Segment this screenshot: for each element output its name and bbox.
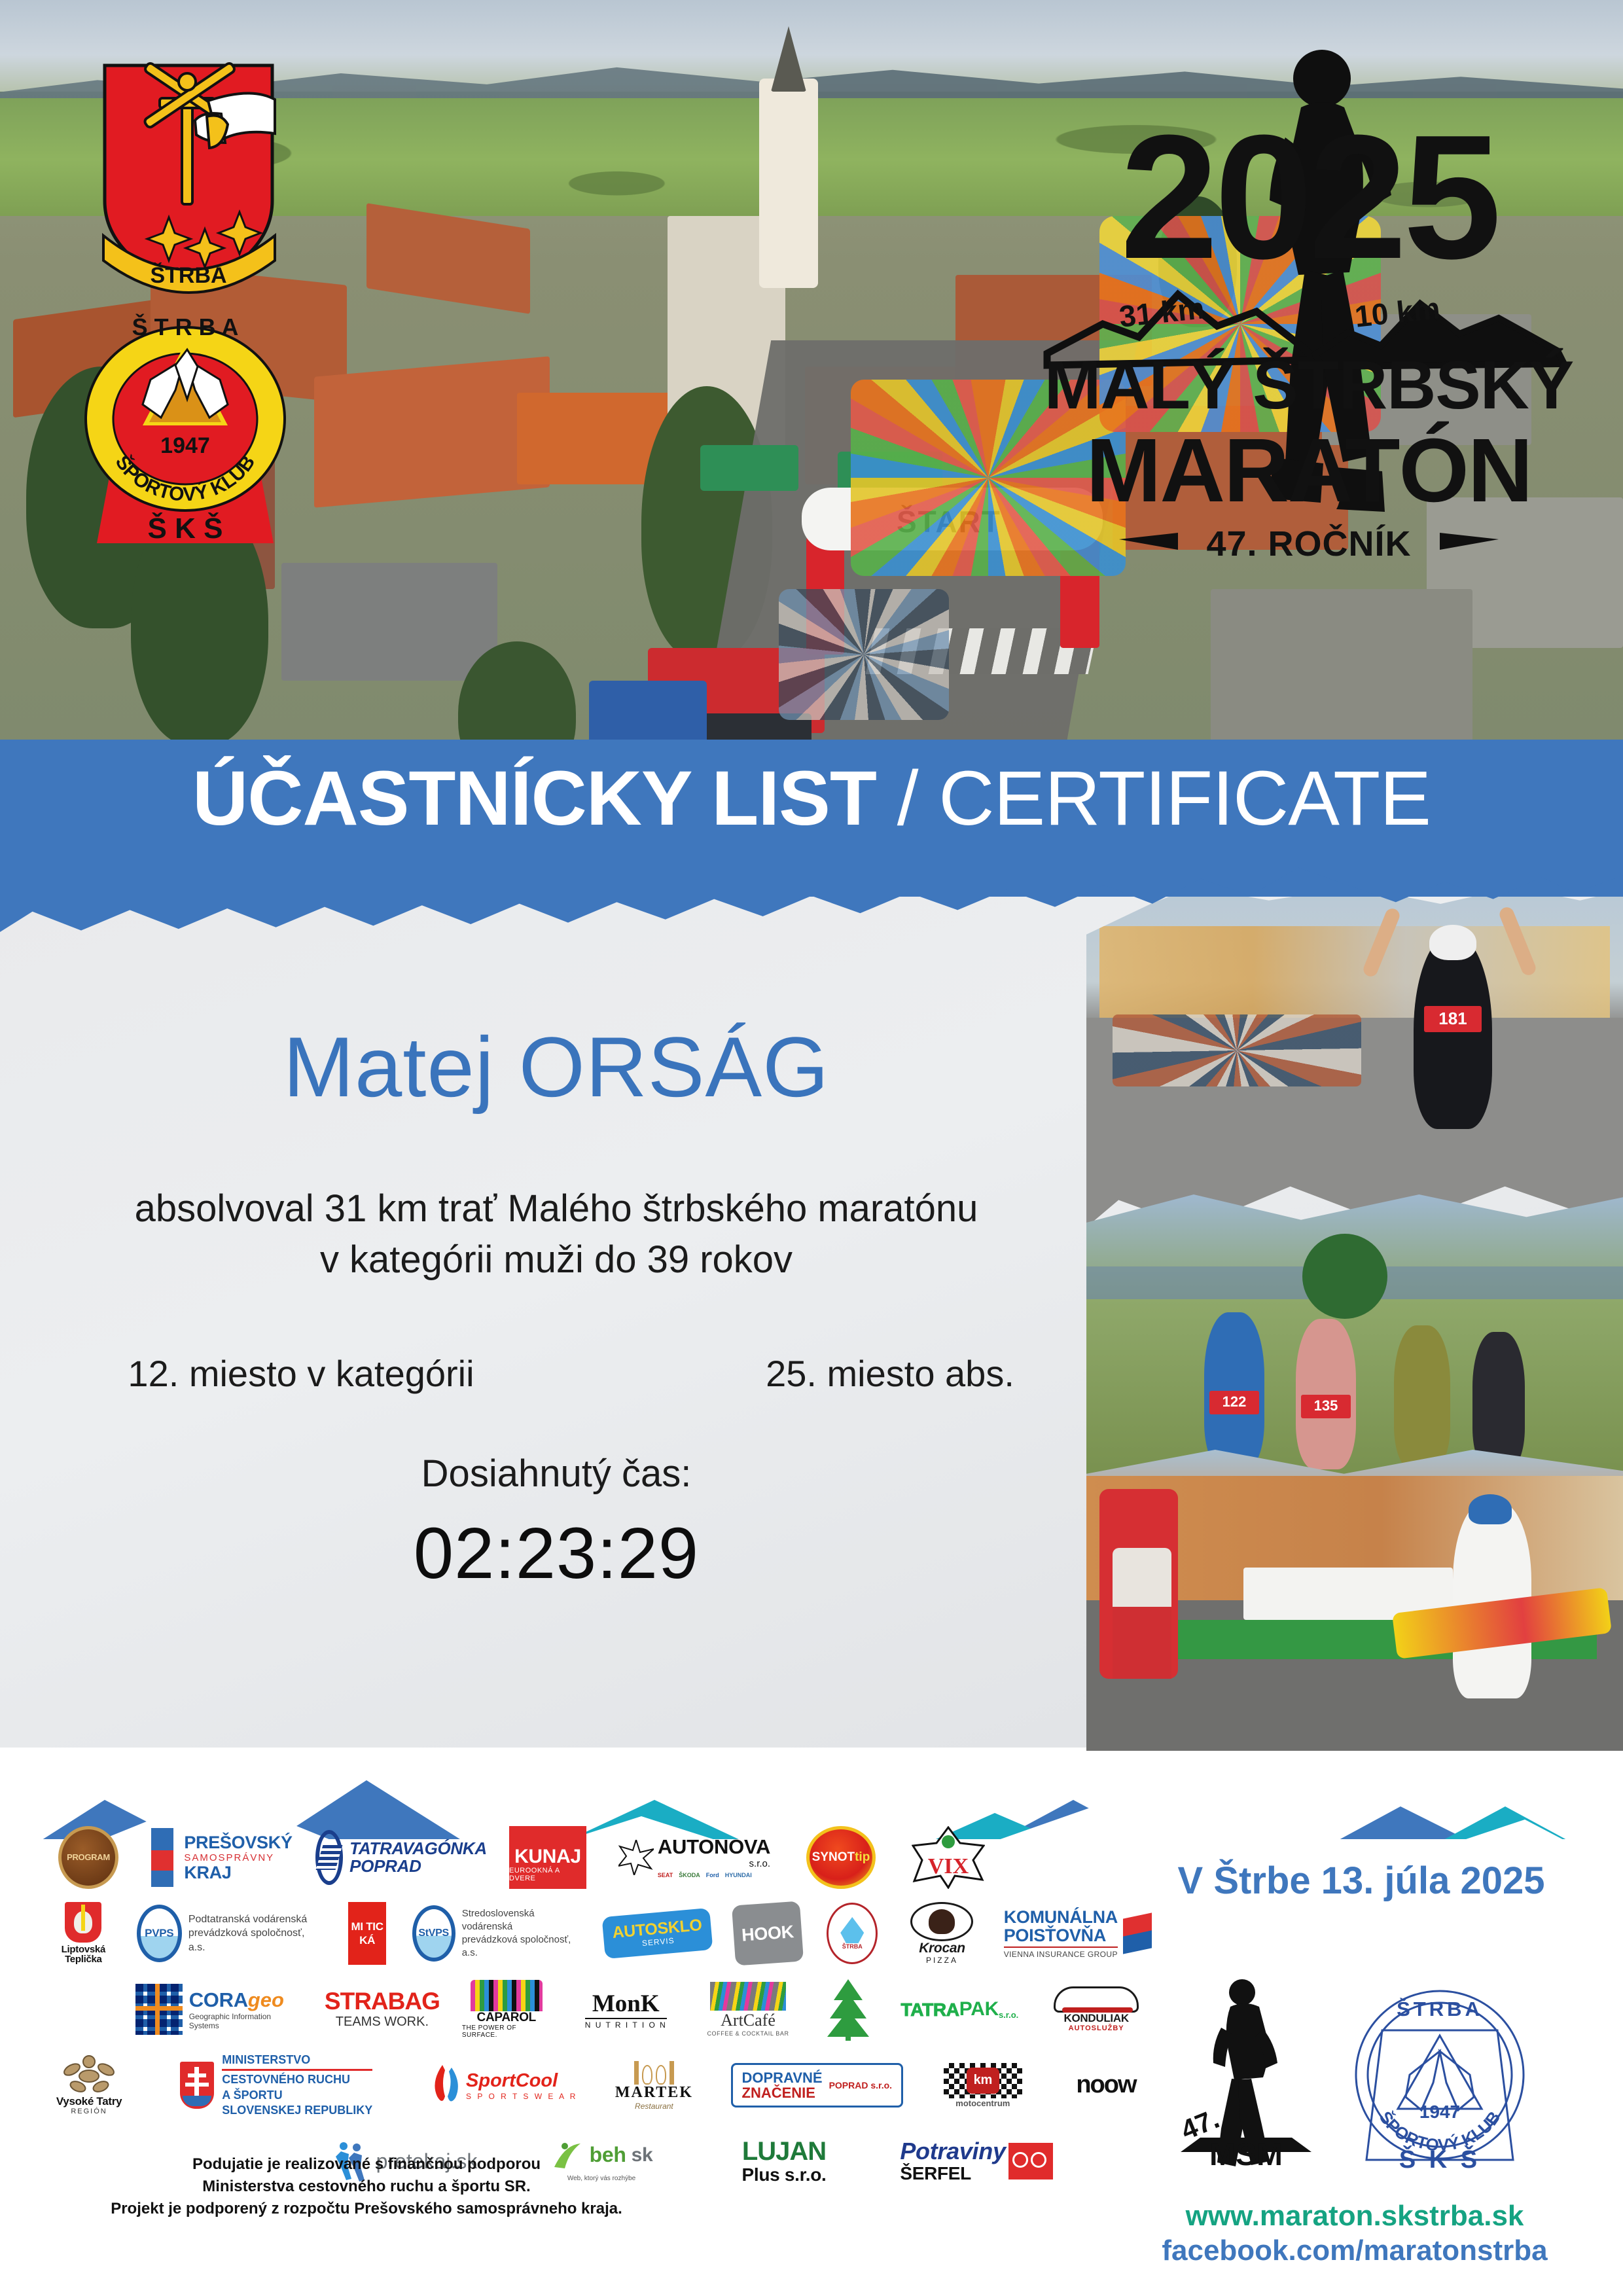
sponsor-logo: SportCool S P O R T S W E A R	[427, 2054, 580, 2117]
sponsor-subtext: Podtatranská vodárenská	[188, 1912, 323, 1927]
page-title: ÚČASTNÍCKY LIST / CERTIFICATE	[0, 754, 1623, 843]
certificate-page: ŠTART	[0, 0, 1623, 2296]
spruce-tree-icon	[823, 1978, 873, 2041]
sponsor-subtext: S P O R T S W E A R	[466, 2092, 577, 2101]
sponsor-text: PREŠOVSKÝ	[184, 1833, 292, 1852]
sponsor-text3: prevádzková spoločnosť, a.s.	[462, 1933, 581, 1960]
sponsor-subtext: s.r.o.	[658, 1858, 770, 1869]
sponsor-subtext: N U T R I T I O N	[585, 2018, 667, 2030]
sponsor-text: CORA	[189, 1988, 248, 2011]
sponsor-logo: KOMUNÁLNA POISŤOVŇA VIENNA INSURANCE GRO…	[1004, 1902, 1152, 1965]
spectators	[779, 589, 949, 720]
sponsor-subtext: Teplička	[65, 1954, 102, 1965]
runner	[1394, 1325, 1450, 1469]
place-absolute: 25. miesto abs.	[687, 1352, 1093, 1395]
sponsor-text4: SLOVENSKEJ REPUBLIKY	[222, 2103, 372, 2118]
tent-green	[700, 445, 798, 491]
sponsor-text: noow	[1076, 2072, 1135, 2098]
clover-icon	[942, 1835, 955, 1848]
sponsor-text: TATRA	[901, 2000, 959, 2019]
seat-brand: SEAT	[658, 1872, 673, 1878]
bib-number: 122	[1209, 1391, 1259, 1414]
sponsor-text3: prevádzková spoločnosť, a.s.	[188, 1926, 323, 1954]
sponsor-text: Potraviny	[900, 2139, 1005, 2164]
sponsor-logo: Potraviny ŠERFEL	[878, 2130, 1075, 2193]
hyundai-brand: HYUNDAI	[725, 1872, 752, 1878]
sponsor-logo: LiptovskáTeplička	[52, 1902, 115, 1965]
finish-time: 02:23:29	[0, 1512, 1113, 1595]
burst-icon	[618, 1840, 654, 1875]
bib-number: 135	[1301, 1395, 1351, 1418]
flame-icon	[429, 2064, 462, 2107]
contact-urls: www.maraton.skstrba.sk facebook.com/mara…	[1132, 2199, 1577, 2269]
sponsor-logo: HOOK	[734, 1902, 802, 1965]
sponsor-logo	[52, 1978, 113, 2041]
sponsor-logo: AUTOSKLO SERVIS	[603, 1902, 711, 1965]
strba-coat-of-arms: ŠTRBA	[97, 60, 280, 309]
sponsor-text: VIX	[928, 1854, 969, 1878]
sponsor-text: KUNAJ	[514, 1846, 581, 1867]
issue-date: V Štrbe 13. júla 2025	[1152, 1859, 1571, 1903]
photo-trail-runners: 122 135	[1086, 1194, 1623, 1476]
sponsor-text3: A ŠPORTU	[222, 2088, 372, 2103]
facebook-url[interactable]: facebook.com/maratonstrba	[1132, 2234, 1577, 2269]
sponsor-subtext: ZNAČENIE	[742, 2085, 823, 2100]
stamp-top: ŠTRBA	[1397, 1997, 1483, 2020]
sponsor-logo: MINISTERSTVO CESTOVNÉHO RUCHU A ŠPORTU S…	[148, 2054, 404, 2117]
sponsor-logo: STRABAG TEAMS WORK.	[325, 1978, 440, 2041]
photo-collage: 181 122 135	[1086, 887, 1623, 1751]
sponsor-subtext: CESTOVNÉHO RUCHU	[222, 2072, 372, 2087]
sponsor-logo: TATRA PAK s.r.o.	[901, 1978, 1019, 2041]
sponsor-subtext: EUROOKNÁ A DVERE	[509, 1867, 586, 1882]
sponsor-text: PVPS	[145, 1928, 173, 1939]
arrow-right	[1440, 533, 1499, 550]
sponsor-logo: PVPS Podtatranská vodárenská prevádzková…	[137, 1902, 323, 1965]
folk-skirt	[1113, 1607, 1171, 1679]
sponsor-text: MINISTERSTVO	[222, 2053, 372, 2068]
sponsor-logo: KONDULIAK AUTOSLUŽBY	[1041, 1978, 1152, 2041]
sponsor-logo: SYNOTtip	[798, 1826, 883, 1889]
participant-name: Matej ORSÁG	[0, 1018, 1113, 1116]
sponsor-text: km	[974, 2073, 992, 2087]
sponsor-subtext: COFFEE & COCKTAIL BAR	[707, 2030, 789, 2037]
skoda-brand: ŠKODA	[679, 1872, 700, 1878]
sponsor-grid: PROGRAM PREŠOVSKÝ SAMOSPRÁVNY KRAJ	[39, 1820, 1152, 2199]
sponsor-logo: DOPRAVNÉ ZNAČENIE POPRAD s.r.o.	[728, 2054, 906, 2117]
sponsor-text: KONDULIAK	[1064, 2013, 1129, 2024]
sponsor-subtext: Stredoslovenská vodárenská	[462, 1907, 581, 1934]
place-in-category: 12. miesto v kategórii	[59, 1352, 543, 1395]
logo-title-line2: MARATÓN	[1041, 419, 1577, 523]
sponsor-logo: VIX	[906, 1826, 991, 1889]
tree	[1302, 1234, 1387, 1319]
time-label: Dosiahnutý čas:	[0, 1452, 1113, 1496]
sponsor-logo: CAPAROL THE POWER OF SURFACE.	[462, 1978, 551, 2041]
sponsor-text: DOPRAVNÉ	[742, 2070, 823, 2085]
photo-finish-woman: 181	[1086, 887, 1623, 1227]
sponsor-text: HOOK	[741, 1922, 794, 1945]
sponsor-logo: km motocentrum	[928, 2054, 1038, 2117]
sponsor-text: Vysoké Tatry	[56, 2096, 122, 2108]
sponsor-subtext: PIZZA	[926, 1956, 958, 1965]
certificate-description: absolvoval 31 km trať Malého štrbského m…	[0, 1183, 1113, 1285]
club-year-label: 1947	[160, 433, 210, 458]
sponsor-text: TATRAVAGÓNKA	[349, 1840, 487, 1857]
sponsor-text: SYNOTtip	[812, 1850, 870, 1865]
sponsor-text: STRABAG	[325, 1989, 440, 2015]
sponsor-logo: MI TIC KÁ	[345, 1902, 390, 1965]
marathon-logo: 2025 31 km 10 km MALÝ ŠTRBSKÝ MARATÓN 47…	[1041, 39, 1577, 628]
page-title-light: / CERTIFICATE	[897, 755, 1431, 842]
white-cap	[1429, 925, 1476, 960]
sponsor-subtext: THE POWER OF SURFACE.	[462, 2024, 551, 2039]
sponsor-logo: ŠTRBA	[824, 1902, 880, 1965]
sponsor-text: MARTEK	[615, 2085, 693, 2101]
funding-note-line-1: Podujatie je realizované s finančnou pod…	[39, 2153, 694, 2176]
sponsor-row: LiptovskáTeplička PVPS Podtatranská vodá…	[39, 1895, 1152, 1971]
sponsor-subtext: Restaurant	[635, 2102, 673, 2111]
msm-abbr: MSM	[1209, 2138, 1283, 2166]
sponsor-text: AUTONOVA	[658, 1837, 770, 1858]
edelweiss-icon	[62, 2055, 116, 2096]
blue-headband	[1469, 1494, 1512, 1524]
sponsor-text3: VIENNA INSURANCE GROUP	[1004, 1946, 1118, 1959]
sponsor-logo: MARTEK Restaurant	[602, 2054, 706, 2117]
sponsor-subtext: TEAMS WORK.	[336, 2015, 429, 2030]
turkey-icon	[929, 1909, 955, 1934]
roof	[314, 356, 550, 507]
website-url[interactable]: www.maraton.skstrba.sk	[1132, 2199, 1577, 2234]
sks-stamp: ŠTRBA 1947 ŠPORTOVÝ KLUB Š K Š	[1342, 1970, 1538, 2173]
sponsor-logo: LUJAN Plus s.r.o.	[712, 2130, 856, 2193]
funding-note-line-3: Projekt je podporený z rozpočtu Prešovsk…	[39, 2198, 694, 2220]
sponsor-text: LUJAN	[742, 2138, 826, 2165]
sponsor-subtext: REGIÓN	[71, 2108, 107, 2115]
club-top-label: Š T R B A	[132, 313, 239, 340]
sponsor-text: Krocan	[919, 1941, 965, 1956]
sponsor-logo: Vysoké Tatry REGIÓN	[52, 2054, 126, 2117]
sponsor-text: PROGRAM	[67, 1853, 110, 1862]
sponsor-text3: Geographic Information Systems	[189, 2012, 302, 2030]
sponsor-text: CAPAROL	[477, 2011, 536, 2024]
sponsor-logo: TATRAVAGÓNKA POPRAD	[319, 1826, 483, 1889]
sponsor-subtext: ŠTRBA	[842, 1943, 863, 1950]
sponsor-logo: PREŠOVSKÝ SAMOSPRÁVNY KRAJ	[147, 1826, 297, 1889]
sponsor-text3: KRAJ	[184, 1863, 292, 1882]
stamp-abbr: Š K Š	[1399, 2144, 1480, 2173]
logo-title-line1: MALÝ ŠTRBSKÝ	[1041, 347, 1577, 425]
sponsor-logo: AUTONOVA s.r.o. SEAT ŠKODA Ford HYUNDAI	[613, 1826, 776, 1889]
sponsor-logo: MonK N U T R I T I O N	[573, 1978, 679, 2041]
sponsor-text: StVPS	[418, 1928, 449, 1939]
sponsor-text3: POPRAD s.r.o.	[829, 2080, 892, 2090]
runner	[1296, 1319, 1356, 1469]
sponsor-row: Vysoké Tatry REGIÓN MINISTERSTVO CESTOVN…	[39, 2047, 1152, 2123]
sponsor-logo: noow	[1060, 2054, 1152, 2117]
stamp-year: 1947	[1419, 2102, 1460, 2122]
sks-club-emblem: Š T R B A 1947 ŠPORTOVÝ KLUB Š K Š	[77, 281, 293, 543]
sponsor-logo: PROGRAM	[52, 1826, 124, 1889]
sponsor-text: MI TIC KÁ	[348, 1920, 386, 1948]
logo-year: 2025	[1041, 118, 1577, 277]
funding-note-line-2: Ministerstva cestovného ruchu a športu S…	[39, 2176, 694, 2198]
sponsor-text3: s.r.o.	[999, 2010, 1018, 2020]
roof	[281, 563, 497, 681]
sponsor-logo: Krocan PIZZA	[902, 1902, 981, 1965]
sponsor-logo: ArtCafé COFFEE & COCKTAIL BAR	[701, 1978, 795, 2041]
sponsor-logo	[817, 1978, 878, 2041]
sponsor-subtext: ŠERFEL	[900, 2164, 1005, 2183]
description-line-2: v kategórii muži do 39 rokov	[0, 1234, 1113, 1285]
sponsor-subtext: POPRAD	[349, 1857, 487, 1875]
description-line-1: absolvoval 31 km trať Malého štrbského m…	[0, 1183, 1113, 1234]
sponsor-subtext: Plus s.r.o.	[742, 2165, 827, 2184]
sponsor-subtext: motocentrum	[955, 2098, 1010, 2108]
arrow-left	[1119, 533, 1178, 550]
sponsor-subtext: geo	[248, 1988, 284, 2011]
sponsor-row: PROGRAM PREŠOVSKÝ SAMOSPRÁVNY KRAJ	[39, 1820, 1152, 1895]
sponsor-subtext: SAMOSPRÁVNY	[184, 1852, 292, 1863]
sponsor-text: KOMUNÁLNA	[1004, 1908, 1118, 1926]
church-tower	[759, 79, 818, 288]
sponsor-subtext: POISŤOVŇA	[1004, 1926, 1118, 1945]
sponsor-logo: KUNAJ EUROOKNÁ A DVERE	[505, 1826, 590, 1889]
sponsor-logo: StVPS Stredoslovenská vodárenská prevádz…	[412, 1902, 581, 1965]
sponsor-subtext: AUTOSLUŽBY	[1069, 2024, 1124, 2032]
msm-runner-logo: 47. MSM	[1152, 1977, 1315, 2166]
runner	[1472, 1332, 1525, 1469]
funding-note: Podujatie je realizované s finančnou pod…	[39, 2153, 694, 2220]
club-abbr-label: Š K Š	[148, 511, 223, 543]
sponsor-text: MonK	[592, 1990, 660, 2018]
ford-brand: Ford	[706, 1872, 719, 1878]
sponsor-text: ArtCafé	[721, 2011, 776, 2030]
sponsor-row: CORAgeo Geographic Information Systems S…	[39, 1971, 1152, 2047]
bib-number: 181	[1424, 1006, 1482, 1032]
sponsor-text: Liptovská	[62, 1944, 105, 1955]
sponsor-subtext: PAK	[959, 1999, 999, 2020]
page-title-bold: ÚČASTNÍCKY LIST	[192, 755, 897, 842]
sponsor-logo: CORAgeo Geographic Information Systems	[135, 1978, 302, 2041]
